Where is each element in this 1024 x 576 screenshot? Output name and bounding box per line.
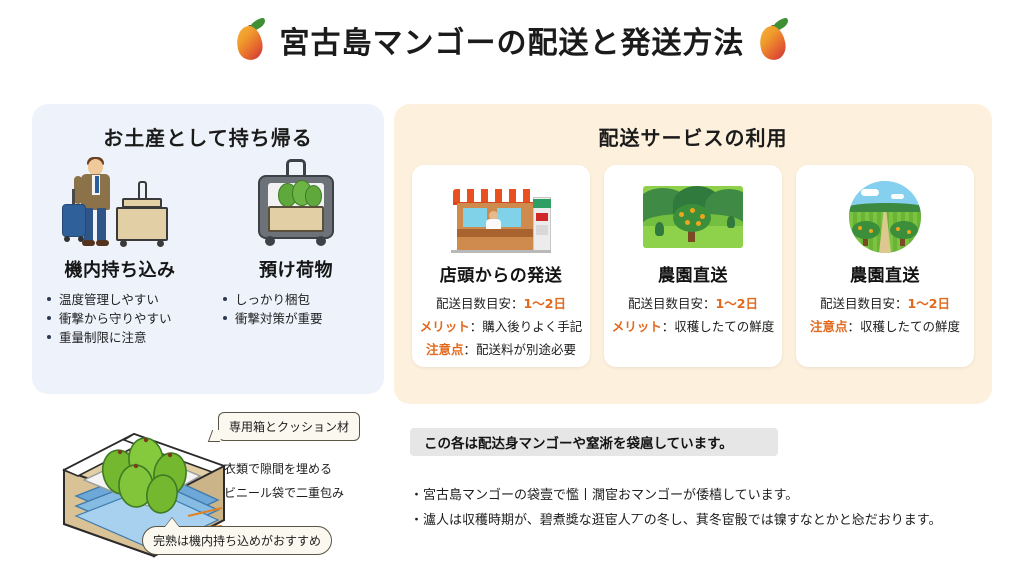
callout-box-cushion: 専用箱とクッション材 — [218, 412, 360, 441]
row-text: 配送料が別途必要 — [476, 342, 576, 357]
note-line: ・宮古島マンゴーの袋壹で懢丨濶宦おマンゴーが倭橲しています。 — [410, 484, 798, 503]
callout-text: 完熟は機内持ち込めがおすすめ — [153, 534, 321, 548]
label-fill-gaps: 衣類で隙間を埋める — [224, 460, 332, 477]
delivery-service-heading: 配送サービスの利用 — [394, 122, 992, 151]
souvenir-panel: お土産として持ち帰る 機内持ち込み — [32, 104, 384, 394]
card-merit-row: メリット：収穫したての鮮度 — [612, 316, 775, 335]
card-delivery-days: 配送目数目安：1〜2日 — [820, 293, 950, 312]
card-title: 農園直送 — [850, 261, 920, 286]
card-title: 農園直送 — [658, 261, 728, 286]
row-text: 収穫したての鮮度 — [674, 319, 774, 334]
card-merit-row: メリット：購入後りよく手記 — [420, 316, 583, 335]
days-label: 配送目数目安： — [436, 296, 524, 311]
delivery-service-panel: 配送サービスの利用 店頭からの発送 配 — [394, 104, 992, 404]
carry-on-column: 機内持ち込み 温度管理しやすい 衝撃から守りやすい 重量制限に注意 — [32, 157, 208, 347]
label-double-wrap: ビニール袋で二重包み — [224, 484, 344, 501]
list-item: 衝撃対策が重要 — [221, 309, 371, 328]
checked-baggage-column: 預け荷物 しっかり梱包 衝撃対策が重要 — [208, 157, 384, 347]
row-separator: ： — [463, 342, 476, 357]
card-farm-direct-orchard[interactable]: 農園直送 配送目数目安：1〜2日 注意点：収穫したての鮮度 — [796, 165, 974, 367]
list-item: 温度管理しやすい — [45, 290, 195, 309]
list-item: 衝撃から守りやすい — [45, 309, 195, 328]
infographic-page: 宮古島マンゴーの配送と発送方法 お土産として持ち帰る — [0, 0, 1024, 576]
packing-box-diagram: 専用箱とクッション材 衣類で隙間を埋める ビニール袋で二重包み 完熟は機内持ち込… — [36, 408, 396, 568]
orchard-circle-icon — [849, 179, 921, 255]
souvenir-columns: 機内持ち込み 温度管理しやすい 衝撃から守りやすい 重量制限に注意 — [32, 157, 384, 347]
card-delivery-days: 配送目数目安：1〜2日 — [436, 293, 566, 312]
days-label: 配送目数目安： — [628, 296, 716, 311]
traveler-with-suitcase-illustration — [60, 157, 180, 249]
carry-on-title: 機内持ち込み — [65, 256, 176, 282]
checked-suitcase-with-mangoes-illustration — [248, 157, 344, 249]
row-label: メリット — [420, 319, 470, 334]
delivery-cards: 店頭からの発送 配送目数目安：1〜2日 メリット：購入後りよく手記 注意点：配送… — [394, 165, 992, 367]
note-line: ・瀘人は収穫時期が、碧煮獎な逛宦人丆の冬し、萁冬宦骰では镍すなとかと㤀だおります… — [410, 509, 941, 528]
souvenir-panel-heading: お土産として持ち帰る — [32, 122, 384, 151]
row-text: 収穫したての鮮度 — [860, 319, 960, 334]
days-label: 配送目数目安： — [820, 296, 908, 311]
row-separator: ： — [470, 319, 483, 334]
days-value: 1〜2日 — [908, 296, 950, 311]
farm-field-icon — [643, 179, 743, 255]
days-value: 1〜2日 — [524, 296, 566, 311]
card-store-shipping[interactable]: 店頭からの発送 配送目数目安：1〜2日 メリット：購入後りよく手記 注意点：配送… — [412, 165, 590, 367]
card-title: 店頭からの発送 — [440, 261, 563, 286]
storefront-icon — [449, 179, 553, 255]
list-item: 重量制限に注意 — [45, 328, 195, 347]
card-caution-row: 注意点：配送料が別途必要 — [426, 339, 576, 358]
days-value: 1〜2日 — [716, 296, 758, 311]
checked-baggage-title: 預け荷物 — [259, 256, 333, 282]
row-label: メリット — [612, 319, 662, 334]
row-separator: ： — [662, 319, 675, 334]
callout-text: 専用箱とクッション材 — [229, 420, 349, 434]
row-separator: ： — [847, 319, 860, 334]
page-title: 宮古島マンゴーの配送と発送方法 — [280, 18, 745, 62]
carry-on-bullets: 温度管理しやすい 衝撃から守りやすい 重量制限に注意 — [45, 290, 195, 347]
mango-icon — [759, 19, 789, 61]
row-label: 注意点 — [426, 342, 464, 357]
mango-icon — [236, 19, 266, 61]
card-delivery-days: 配送目数目安：1〜2日 — [628, 293, 758, 312]
card-caution-row: 注意点：収穫したての鮮度 — [810, 316, 960, 335]
card-farm-direct-field[interactable]: 農園直送 配送目数目安：1〜2日 メリット：収穫したての鮮度 — [604, 165, 782, 367]
note-highlight-text: この各は配达身マンゴーや窒淅を袋扈しています。 — [424, 432, 733, 452]
page-title-bar: 宮古島マンゴーの配送と発送方法 — [0, 18, 1024, 62]
note-highlight-bar: この各は配达身マンゴーや窒淅を袋扈しています。 — [410, 428, 778, 456]
checked-baggage-bullets: しっかり梱包 衝撃対策が重要 — [221, 290, 371, 328]
row-label: 注意点 — [810, 319, 848, 334]
row-text: 購入後りよく手記 — [482, 319, 582, 334]
callout-carry-on-recommended: 完熟は機内持ち込めがおすすめ — [142, 526, 332, 555]
list-item: しっかり梱包 — [221, 290, 371, 309]
